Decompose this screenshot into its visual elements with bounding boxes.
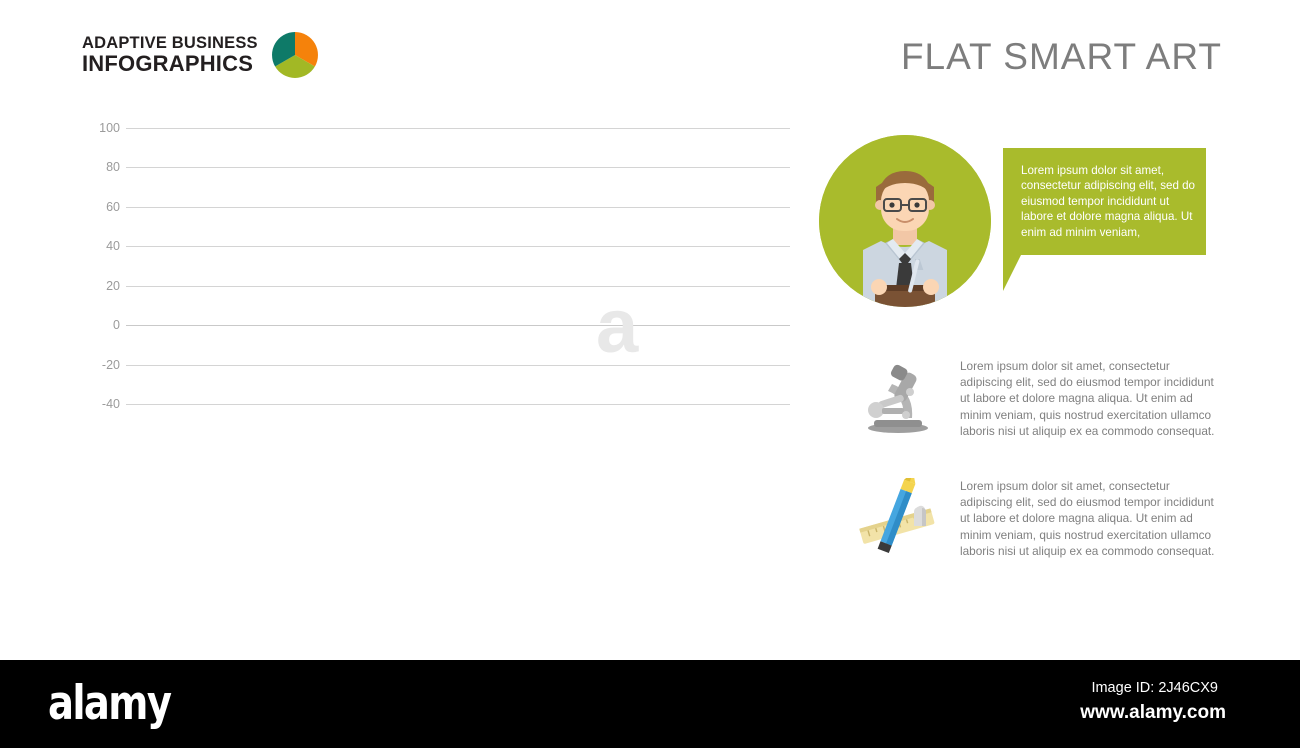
y-axis-tick: -20 [102, 358, 120, 372]
page-title: FLAT SMART ART [901, 36, 1222, 78]
bar-chart: 100806040200-20-40 a alamy [78, 128, 790, 418]
microscope-icon [852, 358, 944, 436]
businessman-avatar [819, 135, 991, 307]
speech-bubble-text: Lorem ipsum dolor sit amet, consectetur … [1021, 163, 1196, 240]
avatar [819, 135, 991, 307]
y-axis-tick: 80 [106, 160, 120, 174]
y-axis-tick: 40 [106, 239, 120, 253]
alamy-logo: alamy [48, 676, 170, 731]
gridline [126, 404, 790, 405]
speech-bubble-tail [1003, 255, 1021, 291]
bar-series [126, 128, 790, 404]
info-row-pencil: Lorem ipsum dolor sit amet, consectetur … [852, 478, 1218, 559]
slide-canvas: ADAPTIVE BUSINESS INFOGRAPHICS FLAT SMAR… [0, 0, 1300, 660]
plot-area: a alamy [126, 128, 790, 404]
y-axis-tick: 20 [106, 279, 120, 293]
brand-logo-text: ADAPTIVE BUSINESS INFOGRAPHICS [82, 35, 258, 76]
info-text-microscope: Lorem ipsum dolor sit amet, consectetur … [960, 358, 1218, 439]
y-axis-tick: 0 [113, 318, 120, 332]
alamy-image-id: Image ID: 2J46CX9 [1091, 680, 1218, 696]
pie-chart-icon [272, 32, 318, 78]
y-axis-tick: -40 [102, 397, 120, 411]
alamy-watermark-bar: alamy Image ID: 2J46CX9 www.alamy.com [0, 660, 1300, 748]
info-row-microscope: Lorem ipsum dolor sit amet, consectetur … [852, 358, 1218, 439]
y-axis-tick: 100 [99, 121, 120, 135]
watermark-alamy-chart: alamy [682, 396, 853, 467]
y-axis-labels: 100806040200-20-40 [78, 128, 120, 404]
alamy-url[interactable]: www.alamy.com [1080, 702, 1226, 724]
y-axis-tick: 60 [106, 200, 120, 214]
pencil-ruler-icon [852, 478, 944, 556]
brand-logo-line1: ADAPTIVE BUSINESS [82, 35, 258, 52]
brand-logo-line2: INFOGRAPHICS [82, 52, 258, 75]
brand-logo: ADAPTIVE BUSINESS INFOGRAPHICS [82, 32, 318, 78]
info-text-pencil: Lorem ipsum dolor sit amet, consectetur … [960, 478, 1218, 559]
